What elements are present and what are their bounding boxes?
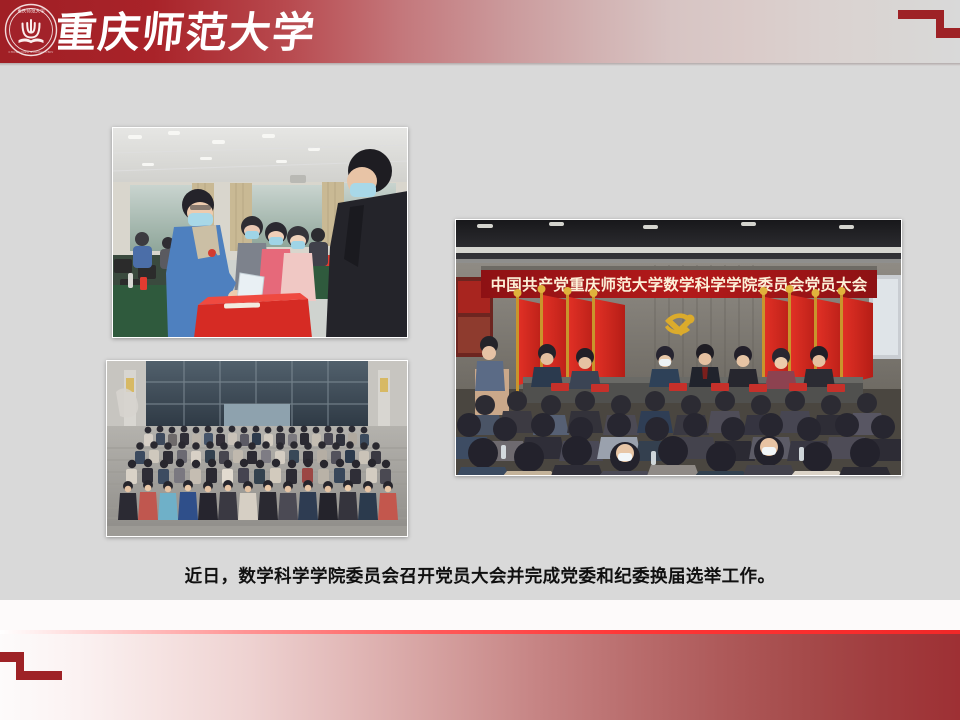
corner-bracket-top-right-icon [898,8,960,46]
photo-conference: 中国共产党重庆师范大学数学科学学院委员会党员大会 [455,219,902,476]
footer-gradient-band [0,634,960,720]
university-seal-logo: 重庆师范大学 CHONGQING NORMAL UNIV [4,3,58,57]
conference-banner-text: 中国共产党重庆师范大学数学科学学院委员会党员大会 [491,275,868,294]
svg-text:重庆师范大学: 重庆师范大学 [17,7,45,14]
slide-caption: 近日，数学科学学院委员会召开党员大会并完成党委和纪委换届选举工作。 [0,563,960,588]
university-name-text: 重庆师范大学 [58,8,318,57]
corner-bracket-bottom-left-icon [0,644,62,682]
university-wordmark: 重庆师范大学 [58,2,328,60]
slide-root: 重庆师范大学 CHONGQING NORMAL UNIV 重庆师范大学 [0,0,960,720]
photo-voting [112,127,408,338]
svg-text:CHONGQING NORMAL UNIV: CHONGQING NORMAL UNIV [9,50,54,54]
photo-group [106,360,408,537]
header-shadow [0,63,960,66]
